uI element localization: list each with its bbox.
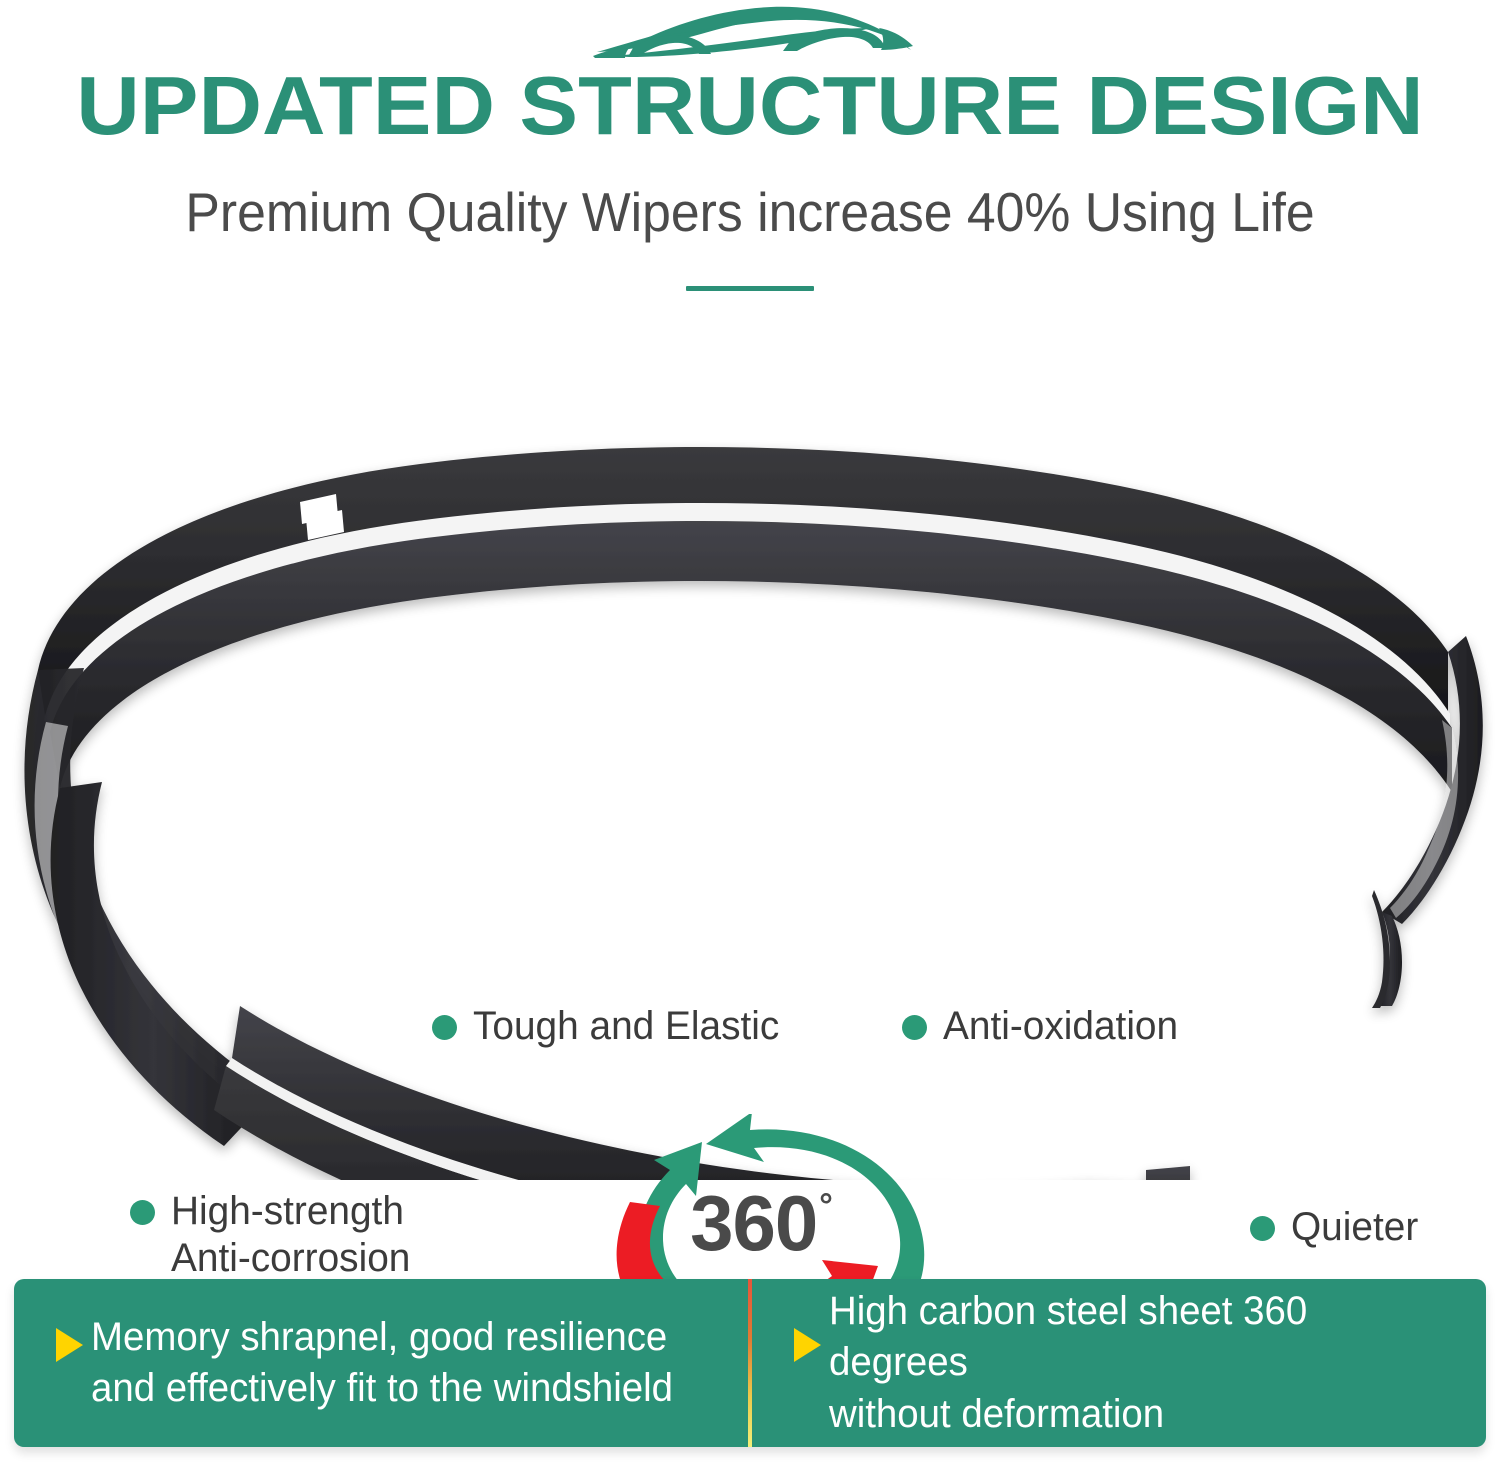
product-infographic-page: UPDATED STRUCTURE DESIGN Premium Quality… [0,0,1500,1475]
banner-text: High carbon steel sheet 360 degrees with… [829,1286,1446,1440]
bullet-dot-icon [1250,1216,1275,1241]
feature-callout-tough-and-elastic: Tough and Elastic [432,1003,789,1050]
bullet-dot-icon [130,1200,155,1225]
feature-callout-high-strength-anti-corrosion: High-strength Anti-corrosion [130,1188,418,1282]
wiper-blade-steel-strip-illustration [0,420,1500,1180]
banner-memory-shrapnel: Memory shrapnel, good resilience and eff… [14,1279,748,1447]
car-silhouette-logo-icon [585,4,915,66]
title-underline-divider [686,286,814,291]
feature-label: Quieter [1291,1204,1418,1251]
triangle-bullet-icon [56,1328,83,1362]
feature-label: High-strength Anti-corrosion [171,1188,410,1282]
feature-label: Anti-oxidation [943,1003,1178,1050]
banner-high-carbon-steel: High carbon steel sheet 360 degrees with… [752,1279,1486,1447]
bottom-banner-row: Memory shrapnel, good resilience and eff… [14,1279,1486,1447]
triangle-bullet-icon [794,1328,821,1362]
feature-callout-quieter: Quieter [1250,1204,1422,1251]
bullet-dot-icon [902,1015,927,1040]
page-subtitle: Premium Quality Wipers increase 40% Usin… [45,182,1455,243]
feature-callout-anti-oxidation: Anti-oxidation [902,1003,1185,1050]
banner-text: Memory shrapnel, good resilience and eff… [91,1312,673,1414]
feature-label: Tough and Elastic [473,1003,779,1050]
bullet-dot-icon [432,1015,457,1040]
product-image-stage: Tough and Elastic Anti-oxidation High-st… [0,420,1500,1180]
page-title: UPDATED STRUCTURE DESIGN [0,64,1500,147]
